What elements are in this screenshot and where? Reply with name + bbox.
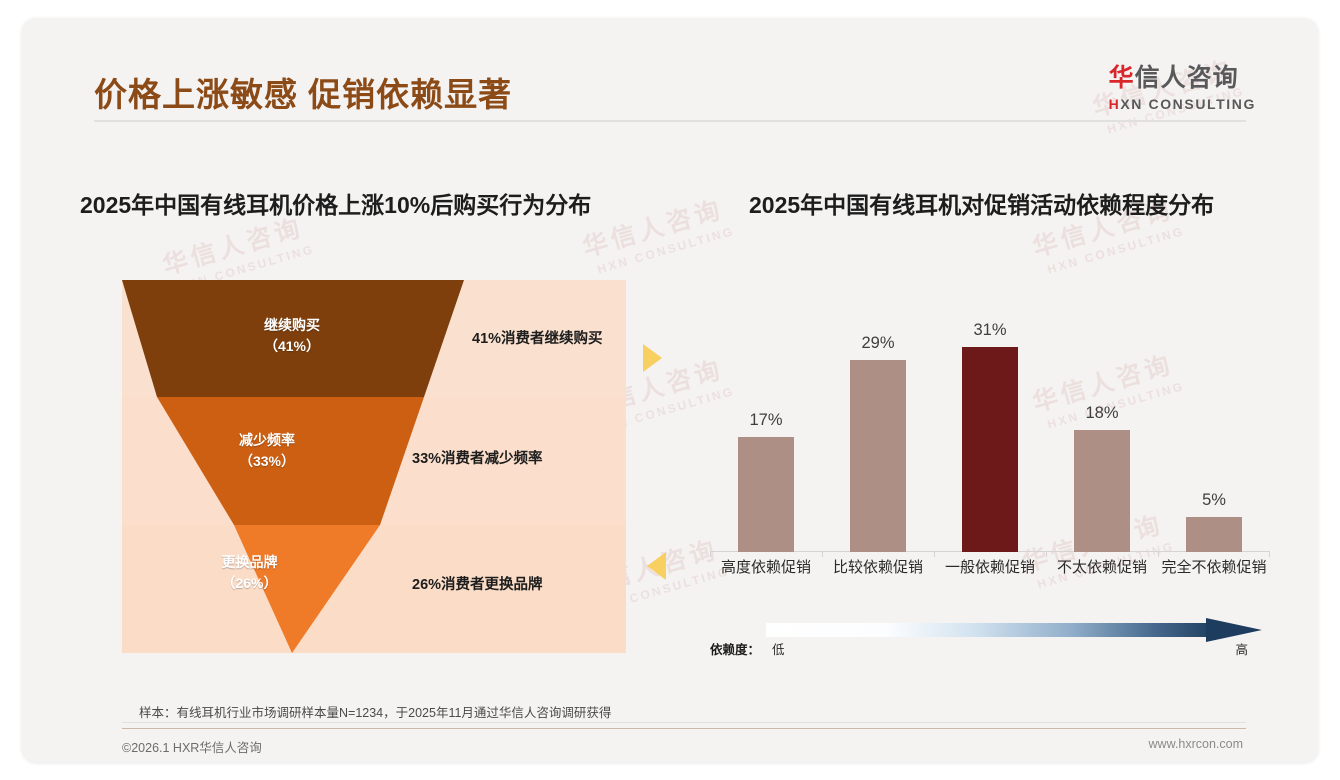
- sample-note: 样本：有线耳机行业市场调研样本量N=1234，于2025年11月通过华信人咨询调…: [139, 702, 611, 721]
- website-url: www.hxrcon.com: [1149, 737, 1243, 751]
- logo-english-rest: XN CONSULTING: [1120, 96, 1256, 112]
- axis-tick: [1046, 552, 1047, 557]
- page-title: 价格上涨敏感 促销依赖显著: [94, 68, 512, 116]
- funnel-segment-label: 减少频率 （33%）: [192, 430, 342, 472]
- watermark-cn: 华信人咨询: [578, 188, 732, 264]
- sample-divider: [122, 722, 1246, 723]
- funnel-side-note: 26%消费者更换品牌: [412, 573, 543, 594]
- x-axis-label: 高度依赖促销: [721, 556, 811, 577]
- funnel-side-note: 41%消费者继续购买: [472, 327, 603, 348]
- axis-tick: [710, 552, 711, 557]
- footer-divider: [122, 728, 1246, 729]
- slide-frame: 华信人咨询 HXN CONSULTING 华信人咨询 HXN CONSULTIN…: [22, 18, 1318, 762]
- watermark-en: HXN CONSULTING: [1046, 224, 1186, 277]
- axis-tick: [1269, 552, 1270, 557]
- bar-value-label: 31%: [973, 321, 1006, 340]
- bar-group[interactable]: 18% 不太依赖促销: [1046, 294, 1158, 552]
- copyright-text: ©2026.1 HXR华信人咨询: [122, 737, 262, 756]
- legend-high-label: 高: [1235, 639, 1248, 658]
- bar[interactable]: [1074, 430, 1130, 552]
- x-axis-label: 完全不依赖促销: [1161, 556, 1266, 577]
- funnel-stage-value: （26%）: [221, 575, 277, 591]
- legend-title: 依赖度：: [710, 639, 760, 658]
- funnel-stage-value: （33%）: [239, 453, 295, 469]
- funnel-stage-name: 继续购买: [264, 317, 320, 333]
- bar-value-label: 29%: [861, 334, 894, 353]
- dependency-bar-chart: 17% 高度依赖促销 29% 比较依赖促销 31% 一般依赖促销 18% 不太依…: [710, 294, 1270, 552]
- watermark-en: HXN CONSULTING: [596, 224, 736, 277]
- bar-group[interactable]: 5% 完全不依赖促销: [1158, 294, 1270, 552]
- bar[interactable]: [850, 360, 906, 552]
- axis-tick: [1158, 552, 1159, 557]
- funnel-stage-value: （41%）: [264, 338, 320, 354]
- logo-chinese: 华信人咨询: [1109, 66, 1256, 91]
- bar[interactable]: [738, 437, 794, 552]
- slide-header: 价格上涨敏感 促销依赖显著 华信人咨询 HXN CONSULTING: [22, 18, 1318, 118]
- bar-group[interactable]: 31% 一般依赖促销: [934, 294, 1046, 552]
- funnel-chart: 继续购买 （41%） 减少频率 （33%） 更换品牌 （26%） 41%消费者继…: [122, 280, 626, 653]
- watermark: 华信人咨询 HXN CONSULTING: [578, 188, 736, 278]
- brand-logo: 华信人咨询 HXN CONSULTING: [1109, 66, 1256, 111]
- x-axis-label: 一般依赖促销: [945, 556, 1035, 577]
- bar-highlighted[interactable]: [962, 347, 1018, 552]
- bar-value-label: 18%: [1085, 404, 1118, 423]
- bar-group[interactable]: 29% 比较依赖促销: [822, 294, 934, 552]
- logo-chinese-accent: 华: [1109, 64, 1135, 92]
- bar-value-label: 5%: [1202, 491, 1226, 510]
- dependency-scale-legend: 依赖度： 低 高: [710, 612, 1270, 668]
- bar-value-label: 17%: [749, 411, 782, 430]
- right-chart-title: 2025年中国有线耳机对促销活动依赖程度分布: [749, 186, 1214, 220]
- axis-tick: [934, 552, 935, 557]
- x-axis-label: 不太依赖促销: [1057, 556, 1147, 577]
- logo-english: HXN CONSULTING: [1109, 97, 1256, 111]
- gradient-arrow-icon: [766, 618, 1262, 642]
- slide-canvas: 华信人咨询 HXN CONSULTING 华信人咨询 HXN CONSULTIN…: [0, 0, 1340, 780]
- header-divider: [94, 120, 1246, 122]
- funnel-stage-name: 更换品牌: [222, 554, 278, 570]
- logo-english-accent: H: [1109, 96, 1121, 112]
- bar[interactable]: [1186, 517, 1242, 552]
- funnel-segment-label: 更换品牌 （26%）: [177, 552, 322, 594]
- funnel-segment-label: 继续购买 （41%）: [192, 315, 392, 357]
- bar-group[interactable]: 17% 高度依赖促销: [710, 294, 822, 552]
- play-left-triangle-icon: [647, 552, 666, 580]
- funnel-side-note: 33%消费者减少频率: [412, 447, 543, 468]
- logo-chinese-rest: 信人咨询: [1135, 64, 1239, 92]
- axis-tick: [822, 552, 823, 557]
- legend-low-label: 低: [772, 639, 785, 658]
- x-axis-label: 比较依赖促销: [833, 556, 923, 577]
- play-right-triangle-icon: [643, 344, 662, 372]
- funnel-stage-name: 减少频率: [239, 432, 295, 448]
- left-chart-title: 2025年中国有线耳机价格上涨10%后购买行为分布: [80, 186, 591, 220]
